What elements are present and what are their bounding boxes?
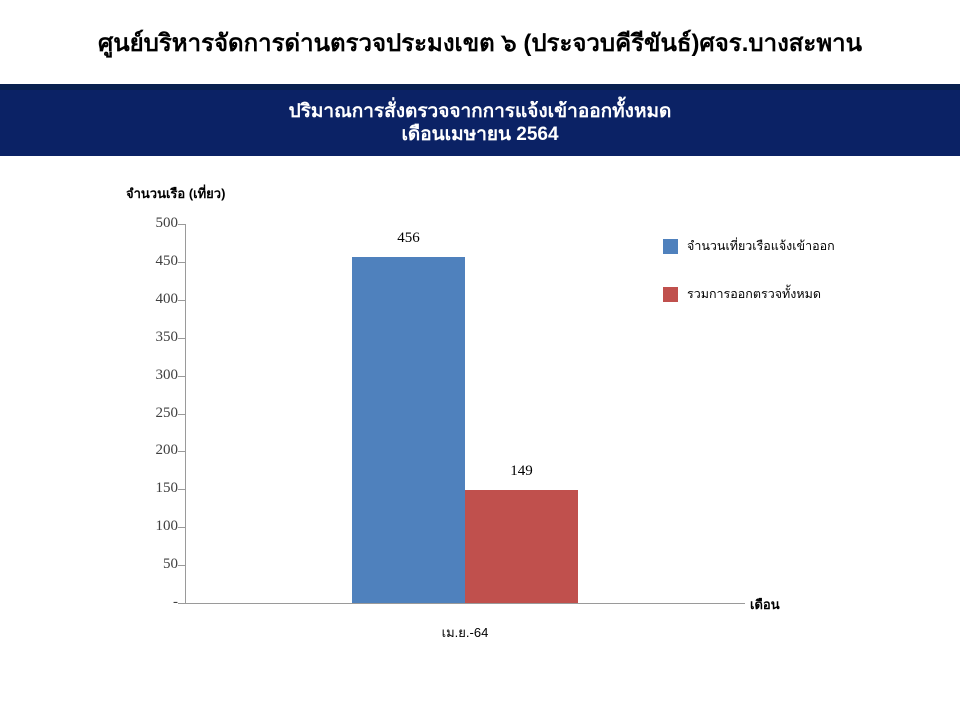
- y-tick-mark-300: [178, 376, 186, 377]
- x-axis-line: [185, 603, 745, 604]
- y-tick-mark-0: [178, 603, 186, 604]
- bar-value-label-2: 149: [465, 463, 578, 480]
- y-tick-mark-500: [178, 224, 186, 225]
- y-tick-mark-100: [178, 527, 186, 528]
- y-tick-250: 250: [120, 414, 178, 415]
- y-tick-300: 300: [120, 376, 178, 377]
- y-tick-mark-350: [178, 338, 186, 339]
- legend-label-1: จำนวนเที่ยวเรือแจ้งเข้าออก: [687, 236, 835, 256]
- legend-label-2: รวมการออกตรวจทั้งหมด: [687, 284, 821, 304]
- y-tick-mark-200: [178, 451, 186, 452]
- y-tick-150: 150: [120, 489, 178, 490]
- y-axis-title: จำนวนเรือ (เที่ยว): [126, 183, 225, 204]
- y-tick-100: 100: [120, 527, 178, 528]
- y-tick-200: 200: [120, 451, 178, 452]
- legend-item-1[interactable]: จำนวนเที่ยวเรือแจ้งเข้าออก: [663, 236, 943, 256]
- chart-title-banner: ปริมาณการสั่งตรวจจากการแจ้งเข้าออกทั้งหม…: [0, 84, 960, 156]
- y-tick-450: 450: [120, 262, 178, 263]
- y-tick-mark-250: [178, 414, 186, 415]
- bar-value-label-1: 456: [352, 230, 465, 247]
- banner-text-block: ปริมาณการสั่งตรวจจากการแจ้งเข้าออกทั้งหม…: [0, 90, 960, 156]
- y-tick-mark-150: [178, 489, 186, 490]
- y-tick-50: 50: [120, 565, 178, 566]
- x-axis-title: เดือน: [750, 594, 780, 615]
- y-tick-mark-450: [178, 262, 186, 263]
- page-header: ศูนย์บริหารจัดการด่านตรวจประมงเขต ๖ (ประ…: [0, 0, 960, 84]
- y-tick-400: 400: [120, 300, 178, 301]
- legend-swatch-blue-icon: [663, 239, 678, 254]
- y-tick-350: 350: [120, 338, 178, 339]
- bar-series-1[interactable]: [352, 257, 465, 603]
- bar-series-2[interactable]: [465, 490, 578, 603]
- legend-item-2[interactable]: รวมการออกตรวจทั้งหมด: [663, 284, 943, 304]
- y-tick-0: -: [120, 603, 178, 604]
- y-tick-500: 500: [120, 224, 178, 225]
- page-title: ศูนย์บริหารจัดการด่านตรวจประมงเขต ๖ (ประ…: [98, 23, 862, 62]
- x-category-label: เม.ย.-64: [352, 622, 578, 643]
- y-tick-mark-400: [178, 300, 186, 301]
- y-tick-mark-50: [178, 565, 186, 566]
- legend-swatch-red-icon: [663, 287, 678, 302]
- bar-chart: จำนวนเรือ (เที่ยว) 500 450 400 350 300 2…: [0, 156, 960, 720]
- chart-legend: จำนวนเที่ยวเรือแจ้งเข้าออก รวมการออกตรวจ…: [663, 236, 943, 332]
- banner-title-line-2: เดือนเมษายน 2564: [401, 123, 558, 146]
- banner-title-line-1: ปริมาณการสั่งตรวจจากการแจ้งเข้าออกทั้งหม…: [289, 100, 672, 123]
